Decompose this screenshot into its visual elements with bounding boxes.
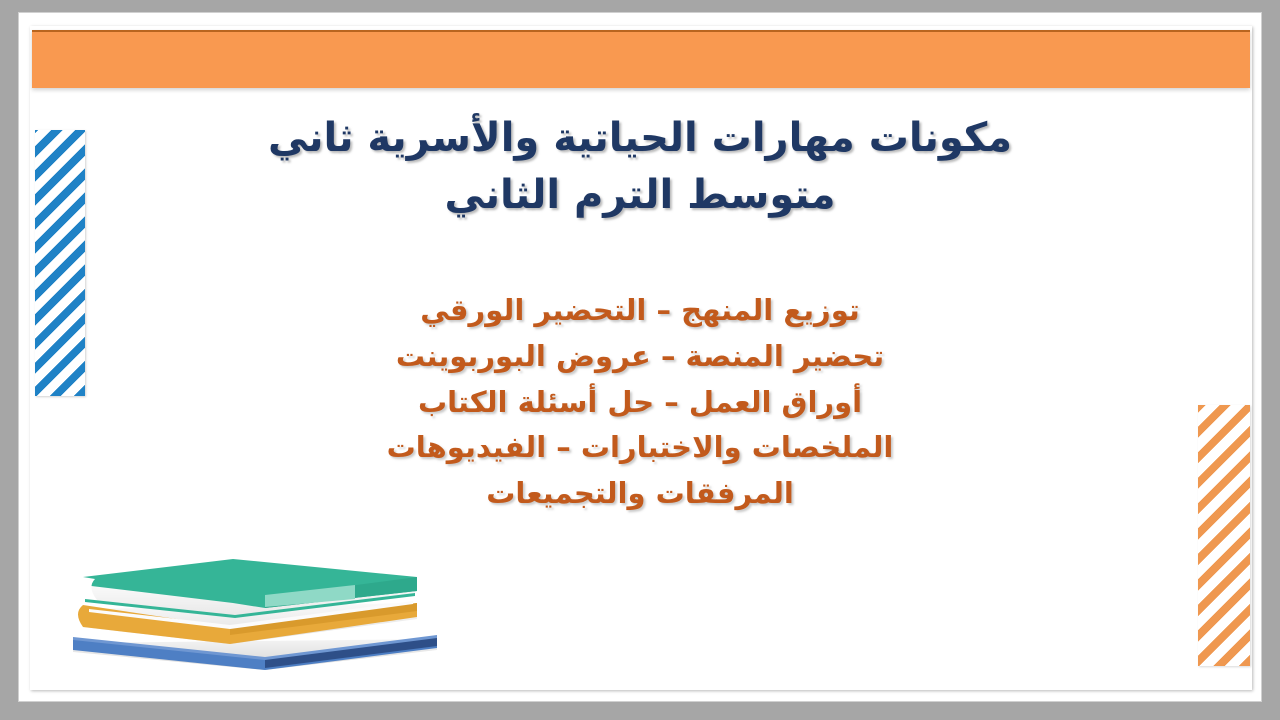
slide-outer-frame: مكونات مهارات الحياتية والأسرية ثاني متو… bbox=[0, 0, 1280, 720]
title-line-2: متوسط الترم الثاني bbox=[180, 167, 1100, 224]
slide-title: مكونات مهارات الحياتية والأسرية ثاني متو… bbox=[180, 110, 1100, 224]
body-line-2: تحضير المنصة – عروض البوربوينت bbox=[230, 334, 1050, 380]
body-line-4: الملخصات والاختبارات – الفيديوهات bbox=[230, 425, 1050, 471]
slide-canvas: مكونات مهارات الحياتية والأسرية ثاني متو… bbox=[30, 26, 1252, 690]
blue-diagonal-stripes-decoration bbox=[35, 130, 85, 396]
slide-body-list: توزيع المنهج – التحضير الورقي تحضير المن… bbox=[230, 288, 1050, 517]
header-orange-band bbox=[32, 30, 1250, 88]
title-line-1: مكونات مهارات الحياتية والأسرية ثاني bbox=[180, 110, 1100, 167]
body-line-1: توزيع المنهج – التحضير الورقي bbox=[230, 288, 1050, 334]
body-line-3: أوراق العمل – حل أسئلة الكتاب bbox=[230, 380, 1050, 426]
body-line-5: المرفقات والتجميعات bbox=[230, 471, 1050, 517]
orange-diagonal-stripes-decoration bbox=[1198, 405, 1250, 666]
stack-of-books-illustration bbox=[65, 551, 455, 676]
